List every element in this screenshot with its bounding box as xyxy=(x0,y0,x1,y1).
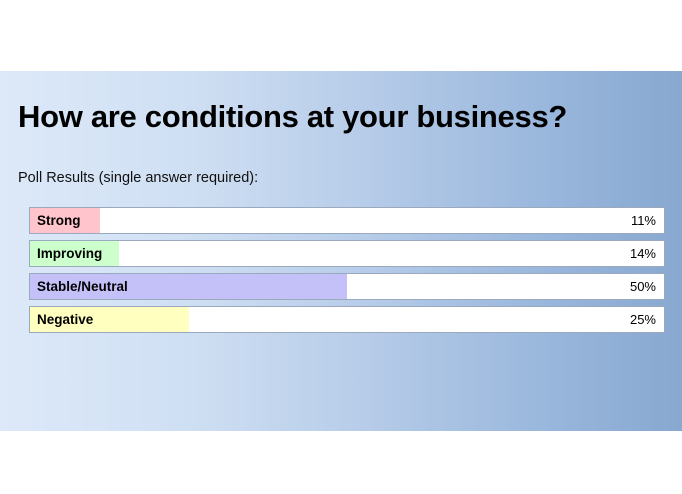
poll-bar-row: Stable/Neutral50% xyxy=(29,273,665,300)
poll-option-label: Stable/Neutral xyxy=(37,274,128,299)
poll-option-percentage: 11% xyxy=(631,208,656,233)
poll-option-percentage: 14% xyxy=(630,241,656,266)
poll-bar-row: Improving14% xyxy=(29,240,665,267)
poll-bar-row: Negative25% xyxy=(29,306,665,333)
poll-option-label: Improving xyxy=(37,241,102,266)
slide-canvas: How are conditions at your business? Pol… xyxy=(0,0,682,494)
poll-option-percentage: 50% xyxy=(630,274,656,299)
slide-background: How are conditions at your business? Pol… xyxy=(0,71,682,431)
poll-option-percentage: 25% xyxy=(630,307,656,332)
poll-results-subtitle: Poll Results (single answer required): xyxy=(18,170,258,186)
poll-option-label: Negative xyxy=(37,307,93,332)
poll-bar-row: Strong11% xyxy=(29,207,665,234)
poll-option-label: Strong xyxy=(37,208,81,233)
page-title: How are conditions at your business? xyxy=(18,99,668,135)
poll-results-chart: Strong11%Improving14%Stable/Neutral50%Ne… xyxy=(29,207,665,339)
